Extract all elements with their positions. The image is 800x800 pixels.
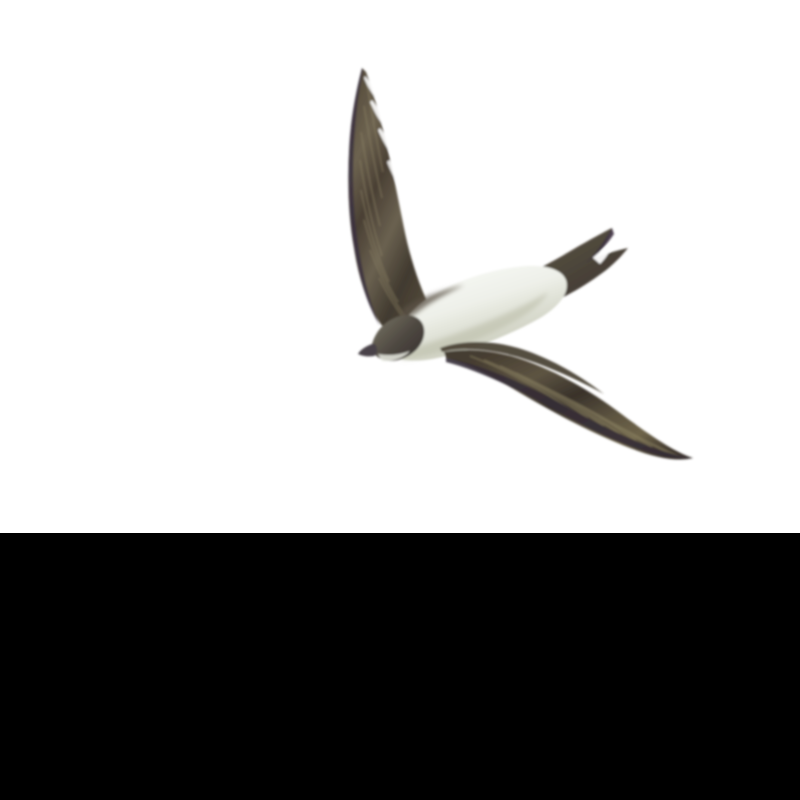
bird-in-flight-illustration	[0, 0, 800, 533]
caption-band: Golondrina parda Brown-chested Martin Pr…	[0, 533, 800, 733]
bird-photo-card: Golondrina parda Brown-chested Martin Pr…	[0, 0, 800, 800]
photo-area	[0, 0, 800, 533]
footer-band: Golondrina parda — Progne tapera Fotógra…	[0, 733, 800, 800]
